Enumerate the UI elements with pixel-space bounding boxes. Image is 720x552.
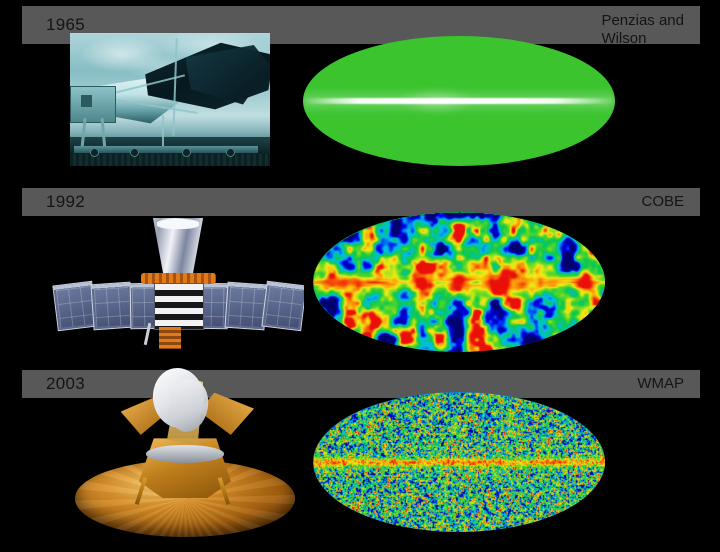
wmap-map-canvas <box>313 392 605 532</box>
solar-panel <box>261 281 304 332</box>
holmdel-horn-antenna-photo <box>70 33 270 166</box>
antenna-wheel <box>130 148 139 157</box>
cobe-map-canvas <box>313 212 605 352</box>
antenna-wheel <box>182 148 191 157</box>
wmap-satellite-image <box>70 368 300 544</box>
cobe-spacecraft-bus <box>154 283 204 331</box>
photo-grass <box>70 154 270 166</box>
solar-panel <box>91 282 134 331</box>
cmb-sky-map-wmap <box>313 392 605 532</box>
galactic-plane <box>303 98 615 104</box>
wmap-thermal-radiator <box>146 445 224 463</box>
row-header-1992: 1992 COBE <box>22 188 700 216</box>
cmb-sky-map-1965 <box>303 36 615 166</box>
antenna-wheel <box>226 148 235 157</box>
cobe-satellite-image <box>36 218 304 356</box>
antenna-control-cabin <box>70 86 116 123</box>
row-mission-label: COBE <box>641 193 684 211</box>
row-mission-label: WMAP <box>637 375 684 393</box>
cobe-boom <box>159 327 180 349</box>
row-mission-label: Penzias and Wilson <box>601 12 684 47</box>
antenna-wheel <box>90 148 99 157</box>
cobe-dewar-aperture <box>157 219 200 229</box>
slide-canvas: 1965 Penzias and Wilson 1992 COBE <box>0 0 720 552</box>
row-year-label: 1992 <box>46 192 85 212</box>
cmb-sky-map-cobe <box>313 212 605 352</box>
row-year-label: 1965 <box>46 15 85 35</box>
